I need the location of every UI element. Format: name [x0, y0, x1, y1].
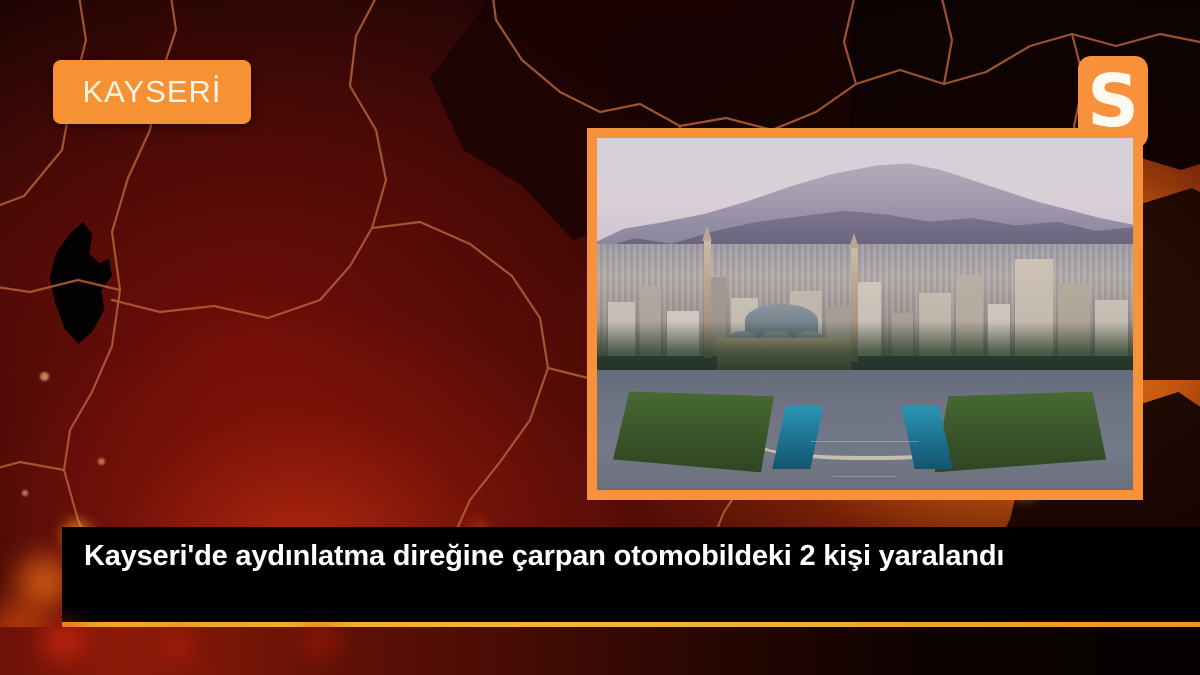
headline-text: Kayseri'de aydınlatma direğine çarpan ot… [84, 538, 1178, 575]
province-badge-label: KAYSERİ [82, 74, 221, 110]
bottom-map-strip [0, 627, 1200, 675]
news-card: KAYSERİ S [0, 0, 1200, 675]
photo-frame [587, 128, 1143, 500]
headline-bar: Kayseri'de aydınlatma direğine çarpan ot… [62, 527, 1200, 622]
kayseri-city-center-photo [597, 138, 1133, 490]
province-badge: KAYSERİ [53, 60, 251, 124]
brand-logo-letter: S [1087, 65, 1139, 137]
photo-color-grade [597, 138, 1133, 490]
